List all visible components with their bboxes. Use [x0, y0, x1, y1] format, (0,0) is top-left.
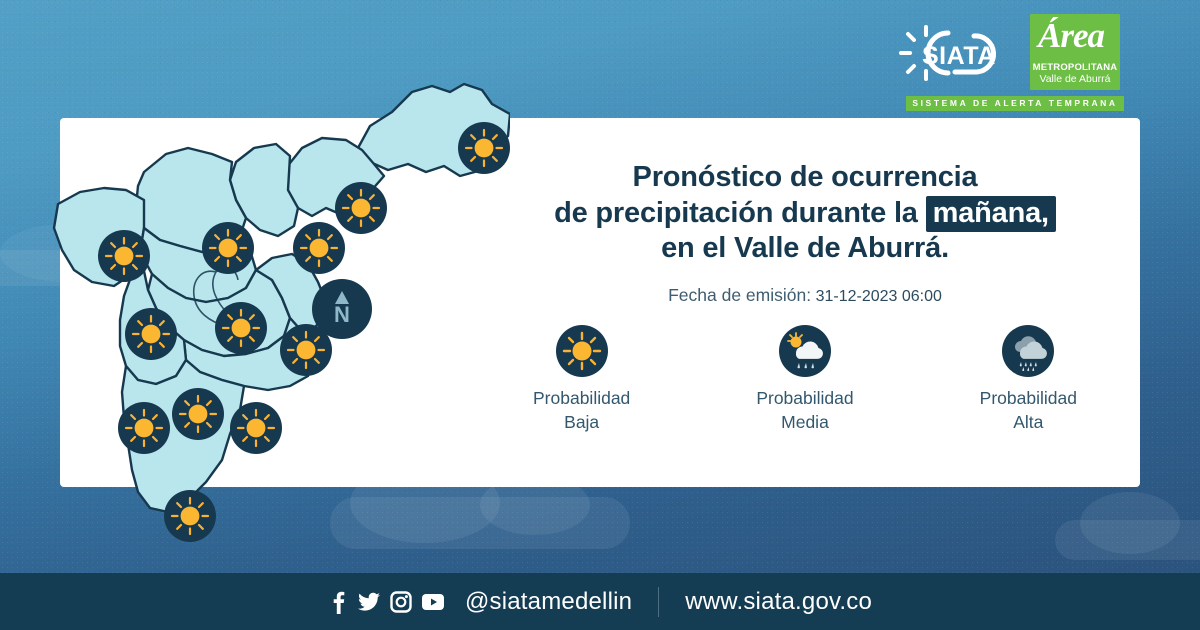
title-line-1: Pronóstico de ocurrencia — [470, 160, 1140, 196]
map-marker-baja[interactable] — [280, 324, 332, 376]
header-logos: SIATA Área METROPOLITANA Valle de Aburrá… — [896, 14, 1128, 112]
legend-media-line2: Media — [710, 411, 900, 435]
map-marker-baja[interactable] — [293, 222, 345, 274]
poster-root: SIATA Área METROPOLITANA Valle de Aburrá… — [0, 0, 1200, 630]
page-title: Pronóstico de ocurrencia de precipitació… — [470, 160, 1140, 267]
tagline-text: SISTEMA DE ALERTA TEMPRANA — [906, 96, 1124, 111]
tagline-bar: SISTEMA DE ALERTA TEMPRANA — [906, 96, 1124, 111]
twitter-icon[interactable] — [357, 590, 381, 614]
map-marker-baja[interactable] — [98, 230, 150, 282]
probability-legend: Probabilidad Baja — [470, 325, 1140, 434]
social-icons — [328, 590, 445, 614]
legend-label-baja: Probabilidad Baja — [487, 387, 677, 434]
map-marker-baja[interactable] — [202, 222, 254, 274]
map-marker-baja[interactable] — [335, 182, 387, 234]
youtube-icon[interactable] — [421, 593, 445, 611]
siata-logo: SIATA — [896, 20, 1026, 90]
map-marker-baja[interactable] — [215, 302, 267, 354]
social-handle[interactable]: @siatamedellin — [465, 588, 632, 616]
title-line-2: de precipitación durante la mañana, — [470, 196, 1140, 232]
forecast-info: Pronóstico de ocurrencia de precipitació… — [470, 160, 1140, 306]
area-metropolitana-logo: Área METROPOLITANA Valle de Aburrá — [1030, 14, 1120, 90]
map-marker-baja[interactable] — [172, 388, 224, 440]
issue-date-value: 31-12-2023 06:00 — [816, 288, 942, 305]
area-logo-script: Área — [1038, 16, 1104, 56]
map-marker-baja[interactable] — [230, 402, 282, 454]
siata-logo-text: SIATA — [922, 42, 996, 71]
legend-media-line1: Probabilidad — [710, 387, 900, 411]
svg-text:N: N — [334, 302, 350, 327]
footer-bar: @siatamedellin www.siata.gov.co — [0, 573, 1200, 630]
legend-label-media: Probabilidad Media — [710, 387, 900, 434]
title-line-3: en el Valle de Aburrá. — [470, 231, 1140, 267]
cloud-rain-icon — [1002, 325, 1054, 377]
legend-item-baja[interactable]: Probabilidad Baja — [487, 325, 677, 434]
decorative-cloud — [1055, 520, 1200, 560]
issue-date-row: Fecha de emisión: 31-12-2023 06:00 — [470, 285, 1140, 306]
legend-item-media[interactable]: Probabilidad Media — [710, 325, 900, 434]
legend-alta-line2: Alta — [933, 411, 1123, 435]
area-logo-line2: Valle de Aburrá — [1030, 73, 1120, 85]
legend-item-alta[interactable]: Probabilidad Alta — [933, 325, 1123, 434]
map-marker-baja[interactable] — [164, 490, 216, 542]
legend-alta-line1: Probabilidad — [933, 387, 1123, 411]
instagram-icon[interactable] — [390, 591, 412, 613]
legend-label-alta: Probabilidad Alta — [933, 387, 1123, 434]
sun-icon — [556, 325, 608, 377]
map-marker-baja[interactable] — [118, 402, 170, 454]
valle-de-aburra-map[interactable]: N — [40, 30, 510, 575]
title-line-2-text: de precipitación durante la — [554, 197, 918, 229]
footer-divider — [658, 587, 659, 617]
area-logo-line1: METROPOLITANA — [1030, 62, 1120, 73]
website-url[interactable]: www.siata.gov.co — [685, 588, 872, 616]
sun-cloud-rain-icon — [779, 325, 831, 377]
title-highlight-manana: mañana, — [926, 196, 1056, 232]
facebook-icon[interactable] — [328, 590, 348, 614]
map-marker-baja[interactable] — [125, 308, 177, 360]
legend-baja-line1: Probabilidad — [487, 387, 677, 411]
legend-baja-line2: Baja — [487, 411, 677, 435]
issue-date-label: Fecha de emisión: — [668, 285, 811, 305]
